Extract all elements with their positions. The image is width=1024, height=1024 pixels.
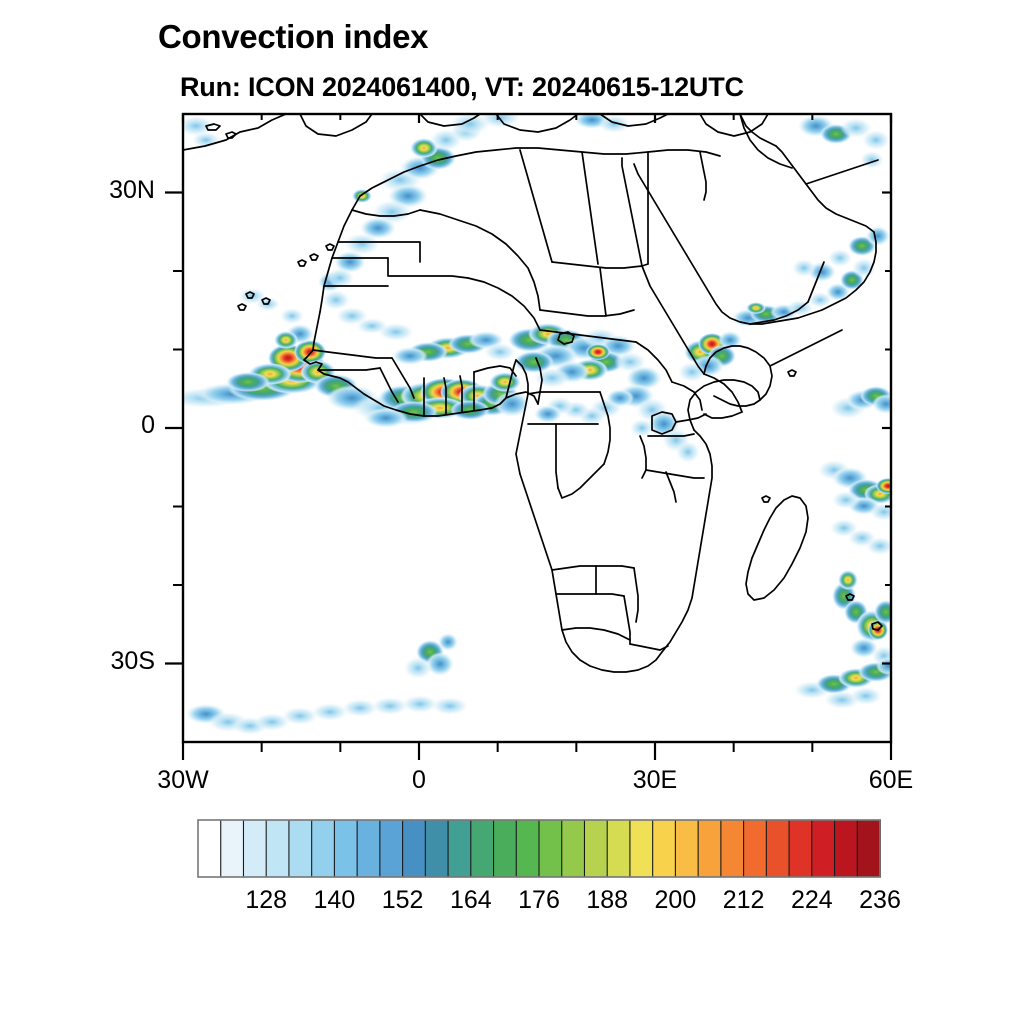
colorbar-cell: [471, 820, 494, 877]
colorbar-cell: [698, 820, 721, 877]
colorbar-cell: [607, 820, 630, 877]
colorbar-cell: [334, 820, 357, 877]
colorbar-cell: [653, 820, 676, 877]
colorbar-cell: [721, 820, 744, 877]
colorbar-cell: [539, 820, 562, 877]
figure-canvas: Convection index Run: ICON 2024061400, V…: [0, 0, 1024, 1024]
colorbar-cell: [448, 820, 471, 877]
colorbar-cell: [380, 820, 403, 877]
colorbar-cell: [221, 820, 244, 877]
colorbar-cell: [789, 820, 812, 877]
colorbar-cell: [494, 820, 517, 877]
colorbar-cell: [403, 820, 426, 877]
colorbar-cell: [630, 820, 653, 877]
colorbar-cell: [766, 820, 789, 877]
colorbar-cell: [357, 820, 380, 877]
colorbar-cell: [425, 820, 448, 877]
colorbar-tick-label: 236: [830, 886, 930, 915]
colorbar-cell: [266, 820, 289, 877]
colorbar-cell: [835, 820, 858, 877]
colorbar-cell: [812, 820, 835, 877]
colorbar-cell: [198, 820, 221, 877]
colorbar-cell: [516, 820, 539, 877]
colorbar-cell: [289, 820, 312, 877]
colorbar-cell: [243, 820, 266, 877]
colorbar-cell: [675, 820, 698, 877]
colorbar-cell: [562, 820, 585, 877]
colorbar-cells: [198, 820, 880, 877]
colorbar-cell: [312, 820, 335, 877]
colorbar-cell: [584, 820, 607, 877]
colorbar: [0, 0, 1024, 1024]
colorbar-cell: [857, 820, 880, 877]
colorbar-cell: [744, 820, 767, 877]
